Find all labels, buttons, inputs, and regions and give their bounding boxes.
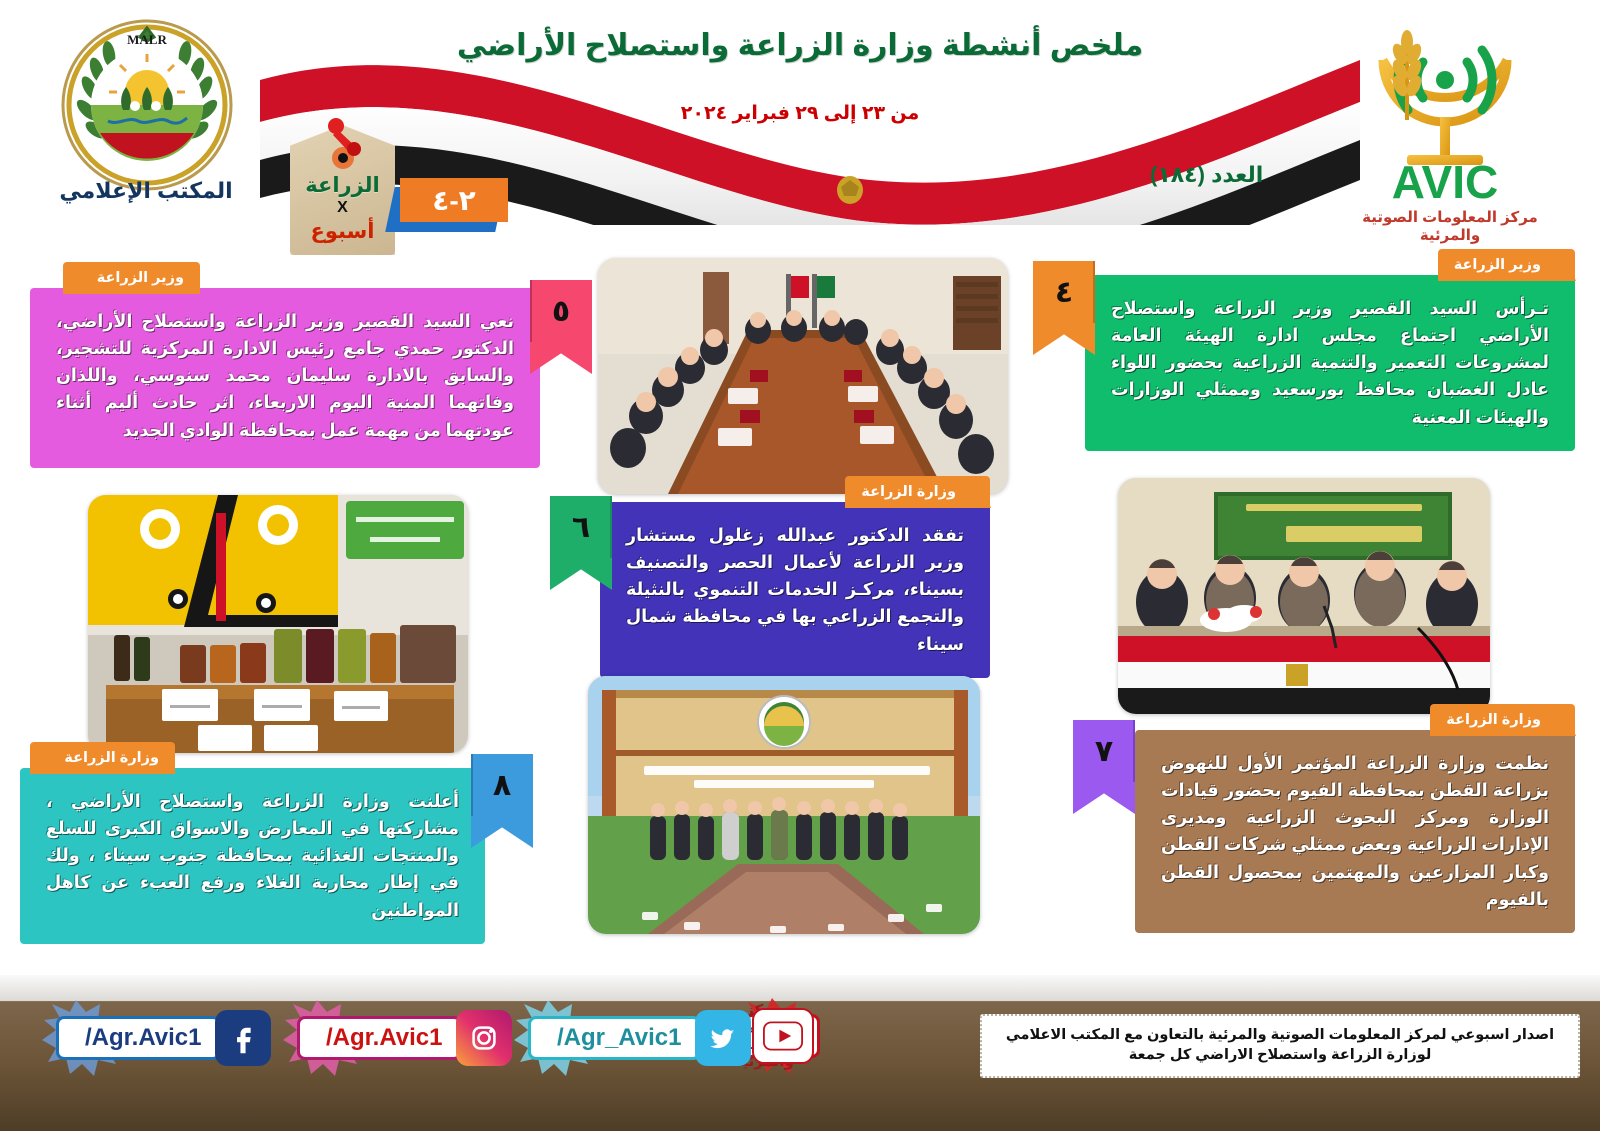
twitter-handle[interactable]: /Agr_Avic1 — [528, 1016, 701, 1060]
card-5-number: ٥ — [530, 280, 592, 374]
photo-meeting-boardroom — [598, 258, 1008, 494]
page-header: MALR المكتب الإعلامي — [0, 0, 1600, 255]
footer-note: اصدار اسبوعي لمركز المعلومات الصوتية وال… — [980, 1014, 1580, 1078]
card-4-tab: وزير الزراعة — [1438, 249, 1575, 281]
page-badge-label: ٢-٤ — [400, 178, 508, 222]
card-5-number-label: ٥ — [552, 294, 570, 329]
avic-logo: AVIC — [1345, 12, 1545, 212]
card-5-body: نعي السيد القصير وزير الزراعة واستصلاح ا… — [30, 288, 540, 468]
egypt-eagle-emblem — [837, 176, 863, 204]
page-title: ملخص أنشطة وزارة الزراعة واستصلاح الأراض… — [430, 28, 1170, 64]
social-twitter[interactable]: /Agr_Avic1 — [528, 1010, 751, 1066]
card-5-tab: وزير الزراعة — [63, 262, 200, 294]
push-pin-icon — [322, 117, 368, 163]
tag-x: X — [290, 199, 395, 217]
youtube-icon[interactable] — [752, 1008, 814, 1064]
instagram-icon[interactable] — [456, 1010, 512, 1066]
photo-panel-conference — [1118, 478, 1490, 714]
news-card-8[interactable]: وزارة الزراعة ٨ أعلنت وزارة الزراعة واست… — [20, 768, 485, 944]
twitter-icon[interactable] — [695, 1010, 751, 1066]
card-7-number-label: ٧ — [1095, 734, 1113, 769]
card-4-body: تـرأس السيد القصير وزير الزراعة واستصلاح… — [1085, 275, 1575, 451]
card-6-number: ٦ — [550, 496, 612, 590]
social-facebook[interactable]: /Agr.Avic1 — [56, 1010, 271, 1066]
card-6-tab: وزارة الزراعة — [845, 476, 990, 508]
news-card-5[interactable]: وزير الزراعة ٥ نعي السيد القصير وزير الز… — [30, 288, 540, 468]
card-6-number-label: ٦ — [572, 510, 590, 545]
tag-line-2: أسبوع — [290, 219, 395, 244]
card-8-number: ٨ — [471, 754, 533, 848]
malr-logo: MALR — [60, 18, 235, 193]
card-8-tab: وزارة الزراعة — [30, 742, 175, 774]
news-card-6[interactable]: وزارة الزراعة ٦ تفقد الدكتور عبدالله زغل… — [600, 502, 990, 678]
photo-group-center-nathila — [588, 676, 980, 934]
avic-wordmark: AVIC — [1392, 156, 1499, 208]
newsletter-page: MALR المكتب الإعلامي — [0, 0, 1600, 1131]
card-4-number-label: ٤ — [1055, 275, 1073, 310]
card-8-body: أعلنت وزارة الزراعة واستصلاح الأراضي ، م… — [20, 768, 485, 944]
social-instagram[interactable]: /Agr.Avic1 — [297, 1010, 512, 1066]
photo-products-exhibition — [88, 495, 468, 753]
news-card-7[interactable]: وزارة الزراعة ٧ نظمت وزارة الزراعة المؤت… — [1135, 730, 1575, 933]
malr-logo-text: MALR — [127, 32, 167, 47]
avic-caption: مركز المعلومات الصوتية والمرئية — [1330, 208, 1570, 244]
center-emblem — [758, 696, 810, 748]
instagram-handle[interactable]: /Agr.Avic1 — [297, 1016, 462, 1060]
issue-number: العدد (١٨٤) — [1150, 162, 1330, 188]
card-7-body: نظمت وزارة الزراعة المؤتمر الأول للنهوض … — [1135, 730, 1575, 933]
card-7-tab: وزارة الزراعة — [1430, 704, 1575, 736]
card-6-body: تفقد الدكتور عبدالله زغلول مستشار وزير ا… — [600, 502, 990, 678]
news-card-4[interactable]: وزير الزراعة ٤ تـرأس السيد القصير وزير ا… — [1085, 275, 1575, 451]
date-range: من ٢٣ إلى ٢٩ فبراير ٢٠٢٤ — [560, 102, 1040, 125]
card-4-number: ٤ — [1033, 261, 1095, 355]
page-badge: ٢-٤ — [400, 178, 510, 228]
hanging-tag: الزراعة X أسبوع — [290, 125, 395, 255]
facebook-handle[interactable]: /Agr.Avic1 — [56, 1016, 221, 1060]
facebook-icon[interactable] — [215, 1010, 271, 1066]
social-youtube[interactable]: مركز المعلومات الصوتية والمرئية — [752, 1008, 814, 1064]
card-7-number: ٧ — [1073, 720, 1135, 814]
tag-line-1: الزراعة — [290, 173, 395, 198]
card-8-number-label: ٨ — [493, 768, 511, 803]
media-office-label: المكتب الإعلامي — [46, 178, 246, 204]
